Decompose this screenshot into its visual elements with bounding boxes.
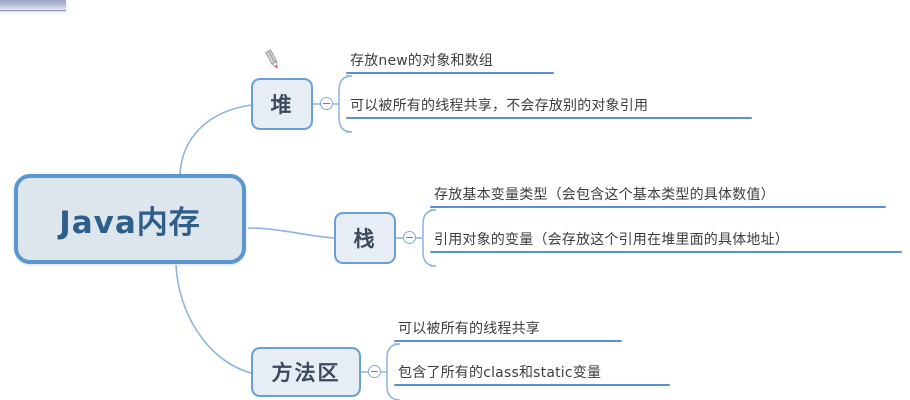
root-node-label: Java内存 [59,197,201,242]
connector-root-stack [248,228,334,238]
branch-node-method-area[interactable]: 方法区 [251,347,361,397]
connector-root-method [176,265,251,373]
leaf-method-area-2-label: 包含了所有的class和static变量 [394,364,670,384]
root-node[interactable]: Java内存 [14,174,246,264]
collapse-minus-icon-heap[interactable] [320,97,333,110]
branch-node-heap[interactable]: 堆 [251,78,313,130]
leaf-method-area-2[interactable]: 包含了所有的class和static变量 [394,364,670,386]
leaf-method-area-1-underline [394,340,622,342]
collapse-minus-icon-method-area[interactable] [368,365,381,378]
leaf-heap-1-label: 存放new的对象和数组 [346,52,554,72]
leaf-stack-2-underline [430,251,902,253]
leaf-method-area-1-label: 可以被所有的线程共享 [394,320,622,340]
mindmap-canvas: Java内存 堆 存放new的对象和数组 可以被所有的线程共享，不会存放别的对象… [0,0,910,400]
leaf-heap-1[interactable]: 存放new的对象和数组 [346,52,554,74]
branch-node-method-area-label: 方法区 [272,357,341,387]
leaf-heap-1-underline [346,72,554,74]
leaf-stack-1[interactable]: 存放基本变量类型（会包含这个基本类型的具体数值） [430,186,886,208]
toolbar-fragment [0,0,66,11]
leaf-stack-2-label: 引用对象的变量（会存放这个引用在堆里面的具体地址） [430,231,902,251]
collapse-minus-icon-stack[interactable] [403,231,416,244]
pen-cursor-icon [262,49,282,71]
leaf-heap-2-label: 可以被所有的线程共享，不会存放别的对象引用 [346,97,752,117]
leaf-heap-2-underline [346,117,752,119]
leaf-stack-1-label: 存放基本变量类型（会包含这个基本类型的具体数值） [430,186,886,206]
connector-root-heap [180,105,251,174]
leaf-stack-2[interactable]: 引用对象的变量（会存放这个引用在堆里面的具体地址） [430,231,902,253]
leaf-heap-2[interactable]: 可以被所有的线程共享，不会存放别的对象引用 [346,97,752,119]
leaf-stack-1-underline [430,206,886,208]
branch-node-stack[interactable]: 栈 [334,212,396,264]
leaf-method-area-2-underline [394,384,670,386]
leaf-method-area-1[interactable]: 可以被所有的线程共享 [394,320,622,342]
branch-node-stack-label: 栈 [354,223,377,253]
branch-node-heap-label: 堆 [271,89,294,119]
